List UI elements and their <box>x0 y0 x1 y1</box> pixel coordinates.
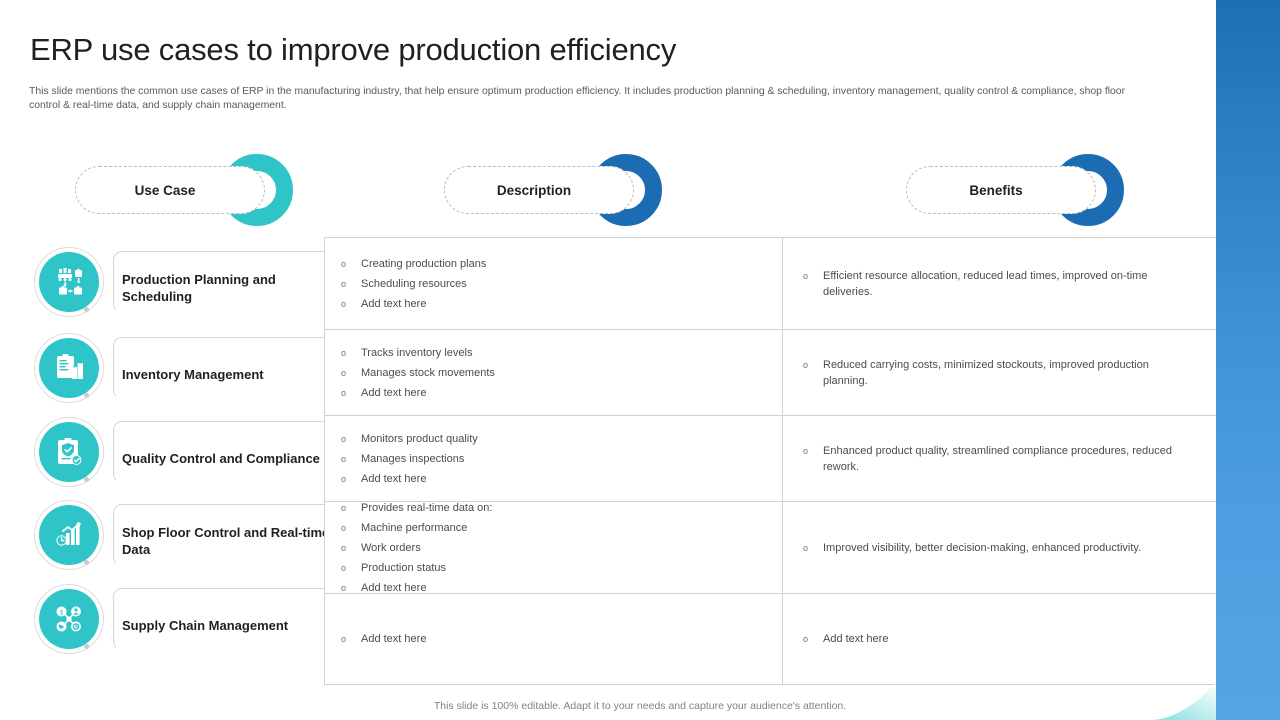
list-item: o Reduced carrying costs, minimized stoc… <box>803 357 1196 389</box>
table-row[interactable]: o Add text here o Add text here <box>325 594 1216 684</box>
list-item: o Improved visibility, better decision-m… <box>803 540 1196 556</box>
description-cell: o Add text here <box>325 594 783 684</box>
list-item: o Work orders <box>341 540 766 556</box>
column-header-use-case[interactable]: Use Case <box>75 154 293 226</box>
benefits-cell: o Improved visibility, better decision-m… <box>783 502 1216 593</box>
bullet-icon: o <box>341 431 361 447</box>
ring-dot <box>84 393 89 398</box>
bullet-icon: o <box>341 500 361 516</box>
list-item: o Provides real-time data on: <box>341 500 766 516</box>
table-row[interactable]: o Monitors product quality o Manages ins… <box>325 416 1216 502</box>
use-case-label: Shop Floor Control and Real-time Data <box>122 498 337 584</box>
list-item: o Enhanced product quality, streamlined … <box>803 443 1196 475</box>
bullet-icon: o <box>341 560 361 576</box>
page-subtitle: This slide mentions the common use cases… <box>29 85 1129 112</box>
bar-chart-clock-icon <box>39 505 99 565</box>
ring-dot <box>84 307 89 312</box>
corner-wave-decoration-overlay <box>1152 676 1216 720</box>
bullet-icon: o <box>341 540 361 556</box>
description-cell: o Monitors product quality o Manages ins… <box>325 416 783 501</box>
supply-network-icon: $ <box>39 589 99 649</box>
bullet-icon: o <box>341 631 361 647</box>
table-row[interactable]: o Tracks inventory levels o Manages stoc… <box>325 330 1216 416</box>
bullet-icon: o <box>341 276 361 292</box>
bullet-icon: o <box>341 520 361 536</box>
bullet-icon: o <box>341 345 361 361</box>
description-cell: o Tracks inventory levels o Manages stoc… <box>325 330 783 415</box>
list-item: o Add text here <box>341 385 766 401</box>
use-case-item-shop-floor-control[interactable]: Shop Floor Control and Real-time Data <box>30 498 330 584</box>
clipboard-inventory-icon <box>39 338 99 398</box>
benefits-cell: o Add text here <box>783 594 1216 684</box>
use-case-item-inventory-management[interactable]: Inventory Management <box>30 331 330 417</box>
table-row[interactable]: o Creating production plans o Scheduling… <box>325 238 1216 330</box>
list-item: o Add text here <box>341 296 766 312</box>
benefits-cell: o Enhanced product quality, streamlined … <box>783 416 1216 501</box>
column-header-label: Benefits <box>906 154 1124 226</box>
bullet-icon: o <box>803 443 823 459</box>
list-item: o Machine performance <box>341 520 766 536</box>
ring-dot <box>84 477 89 482</box>
column-header-benefits[interactable]: Benefits <box>906 154 1124 226</box>
use-case-item-production-planning[interactable]: Production Planning and Scheduling <box>30 245 330 331</box>
list-item: o Scheduling resources <box>341 276 766 292</box>
bullet-icon: o <box>803 540 823 556</box>
bullet-icon: o <box>341 471 361 487</box>
list-item: o Manages inspections <box>341 451 766 467</box>
bullet-icon: o <box>341 256 361 272</box>
list-item: o Manages stock movements <box>341 365 766 381</box>
description-cell: o Provides real-time data on: o Machine … <box>325 502 783 593</box>
use-case-label: Inventory Management <box>122 331 337 417</box>
list-item: o Production status <box>341 560 766 576</box>
list-item: o Add text here <box>341 631 766 647</box>
production-workflow-icon <box>39 252 99 312</box>
list-item: o Add text here <box>341 471 766 487</box>
use-case-item-quality-control[interactable]: Quality Control and Compliance <box>30 415 330 501</box>
list-item: o Creating production plans <box>341 256 766 272</box>
bullet-icon: o <box>341 451 361 467</box>
shield-checklist-icon <box>39 422 99 482</box>
bullet-icon: o <box>341 365 361 381</box>
use-case-label: Quality Control and Compliance <box>122 415 337 501</box>
bullet-icon: o <box>803 268 823 284</box>
table-row[interactable]: o Provides real-time data on: o Machine … <box>325 502 1216 594</box>
ring-dot <box>84 644 89 649</box>
use-case-table: o Creating production plans o Scheduling… <box>324 237 1217 685</box>
column-header-description[interactable]: Description <box>444 154 662 226</box>
bullet-icon: o <box>803 631 823 647</box>
column-header-label: Use Case <box>75 154 293 226</box>
page-title: ERP use cases to improve production effi… <box>30 32 676 68</box>
right-gradient-bar-overlay <box>1216 0 1280 720</box>
list-item: o Monitors product quality <box>341 431 766 447</box>
bullet-icon: o <box>341 385 361 401</box>
list-item: o Tracks inventory levels <box>341 345 766 361</box>
bullet-icon: o <box>803 357 823 373</box>
use-case-label: Production Planning and Scheduling <box>122 245 337 331</box>
list-item: o Add text here <box>803 631 1196 647</box>
use-case-item-supply-chain-management[interactable]: $ Supply Chain Management <box>30 582 330 668</box>
benefits-cell: o Efficient resource allocation, reduced… <box>783 238 1216 329</box>
bullet-icon: o <box>341 296 361 312</box>
column-header-label: Description <box>444 154 662 226</box>
use-case-label: Supply Chain Management <box>122 582 337 668</box>
description-cell: o Creating production plans o Scheduling… <box>325 238 783 329</box>
ring-dot <box>84 560 89 565</box>
slide-root: ERP use cases to improve production effi… <box>0 0 1280 720</box>
benefits-cell: o Reduced carrying costs, minimized stoc… <box>783 330 1216 415</box>
footer-note: This slide is 100% editable. Adapt it to… <box>0 700 1280 712</box>
list-item: o Efficient resource allocation, reduced… <box>803 268 1196 300</box>
